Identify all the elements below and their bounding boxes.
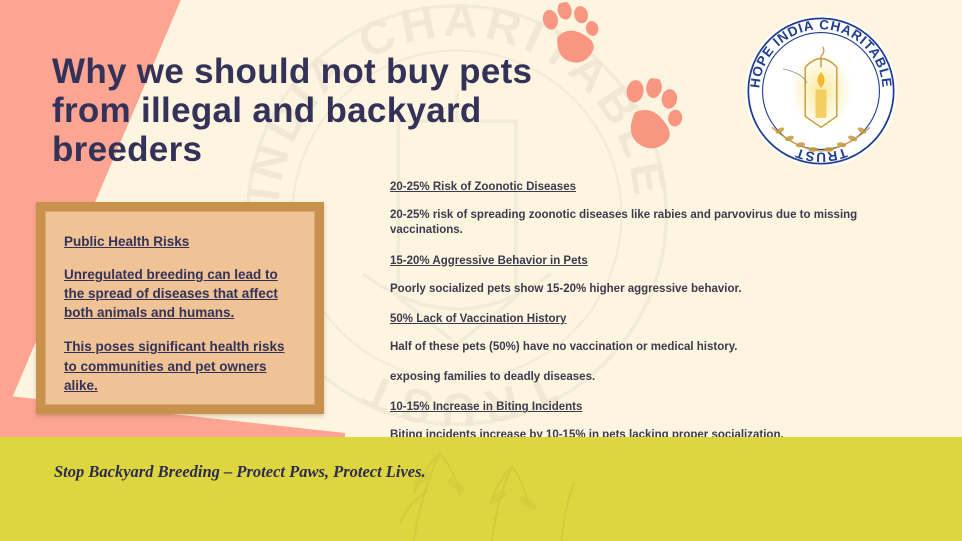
footer-tagline: Stop Backyard Breeding – Protect Paws, P… [54, 462, 484, 482]
slide-canvas: INDIA CHARITABLE TRUST [0, 0, 962, 541]
card-title: Public Health Risks [64, 234, 300, 249]
botanical-pattern [370, 437, 600, 541]
bottom-yellow-band [0, 437, 962, 541]
hope-india-charitable-trust-logo: HOPE INDIA CHARITABLE TRUST [742, 12, 900, 170]
card-paragraph-2: This poses significant health risks to c… [64, 337, 300, 394]
slide-title: Why we should not buy pets from illegal … [52, 52, 612, 170]
public-health-risks-card: Public Health Risks Unregulated breeding… [36, 202, 324, 414]
statistics-content-column: 20-25% Risk of Zoonotic Diseases 20-25% … [390, 181, 920, 472]
stat-body-aggression: Poorly socialized pets show 15-20% highe… [390, 282, 920, 297]
stat-body-zoonotic: 20-25% risk of spreading zoonotic diseas… [390, 208, 920, 239]
stat-heading-zoonotic: 20-25% Risk of Zoonotic Diseases [390, 181, 920, 193]
stat-heading-vaccination: 50% Lack of Vaccination History [390, 313, 920, 325]
card-inner-surface: Public Health Risks Unregulated breeding… [45, 211, 315, 405]
stat-body-vaccination-cont: exposing families to deadly diseases. [390, 370, 920, 385]
stat-heading-biting: 10-15% Increase in Biting Incidents [390, 401, 920, 413]
stat-heading-aggression: 15-20% Aggressive Behavior in Pets [390, 255, 920, 267]
card-paragraph-1: Unregulated breeding can lead to the spr… [64, 265, 300, 322]
stat-body-vaccination: Half of these pets (50%) have no vaccina… [390, 340, 920, 355]
